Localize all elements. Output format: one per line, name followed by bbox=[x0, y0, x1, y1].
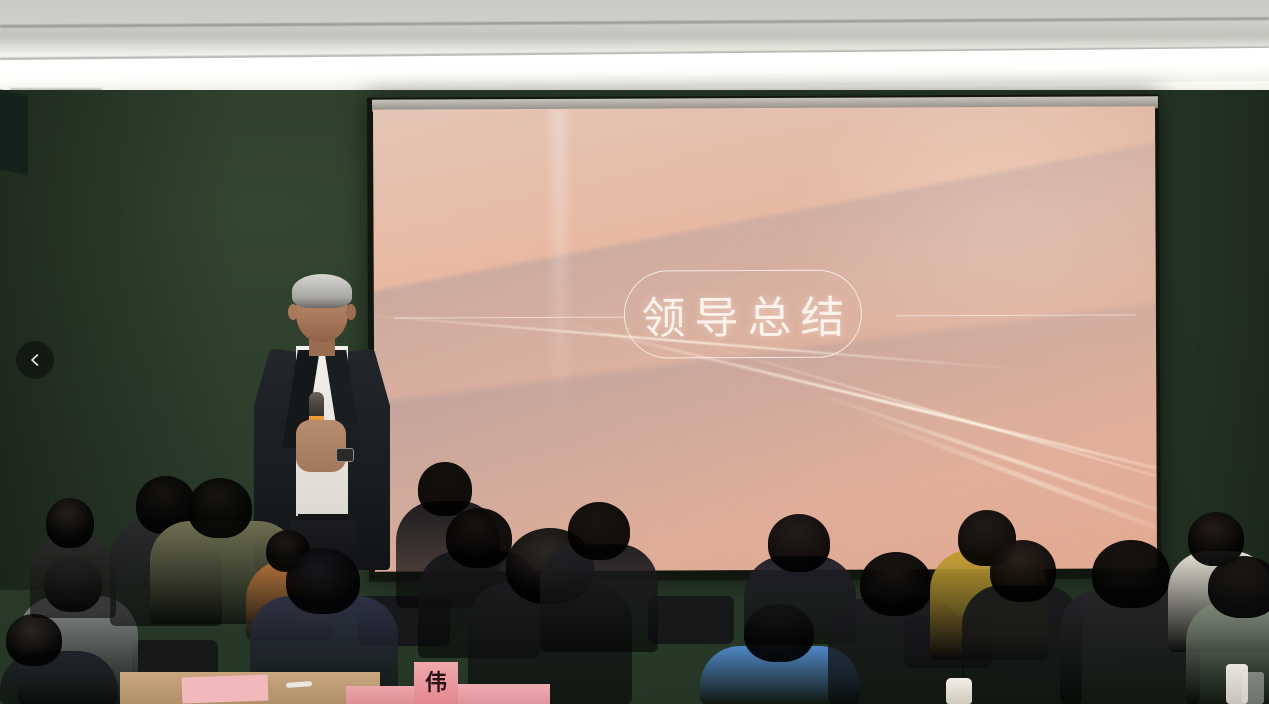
name-placard-text: 伟 bbox=[425, 672, 447, 694]
slide-title-pill: 领导总结 bbox=[624, 270, 862, 359]
attendee-dark-4 bbox=[540, 502, 658, 652]
speaker-ear bbox=[288, 304, 298, 320]
attendee-head bbox=[46, 498, 94, 548]
attendee-left-2 bbox=[0, 614, 118, 704]
attendee-head bbox=[6, 614, 62, 666]
name-placard: 伟 bbox=[414, 662, 458, 704]
presentation-photo: 领导总结 伟 bbox=[0, 0, 1269, 704]
speaker-hair bbox=[292, 274, 352, 308]
attendee-head bbox=[568, 502, 630, 560]
desk-paper bbox=[182, 675, 269, 704]
chevron-left-icon bbox=[27, 352, 43, 368]
attendee-head bbox=[990, 540, 1056, 602]
attendee-head bbox=[188, 478, 252, 538]
speaker-ear bbox=[346, 304, 356, 320]
attendee-head bbox=[1208, 556, 1269, 618]
glass-icon bbox=[1242, 672, 1264, 704]
slide-headline: 领导总结 bbox=[632, 282, 853, 347]
ceiling-seam bbox=[0, 17, 1269, 28]
wristwatch-icon bbox=[336, 448, 354, 462]
cup-icon bbox=[946, 678, 972, 704]
slide-title-block: 领导总结 bbox=[374, 268, 1156, 363]
attendee-head bbox=[768, 514, 830, 572]
slide-rule-right bbox=[896, 314, 1136, 316]
attendee-head bbox=[1092, 540, 1170, 608]
prev-button[interactable] bbox=[16, 341, 54, 379]
attendee-head bbox=[860, 552, 932, 616]
attendee-head bbox=[286, 548, 360, 614]
attendee-left-3 bbox=[30, 498, 116, 618]
speaker-hands bbox=[296, 420, 346, 472]
wall-fixture bbox=[0, 88, 28, 175]
slide-rule-left bbox=[394, 317, 624, 319]
